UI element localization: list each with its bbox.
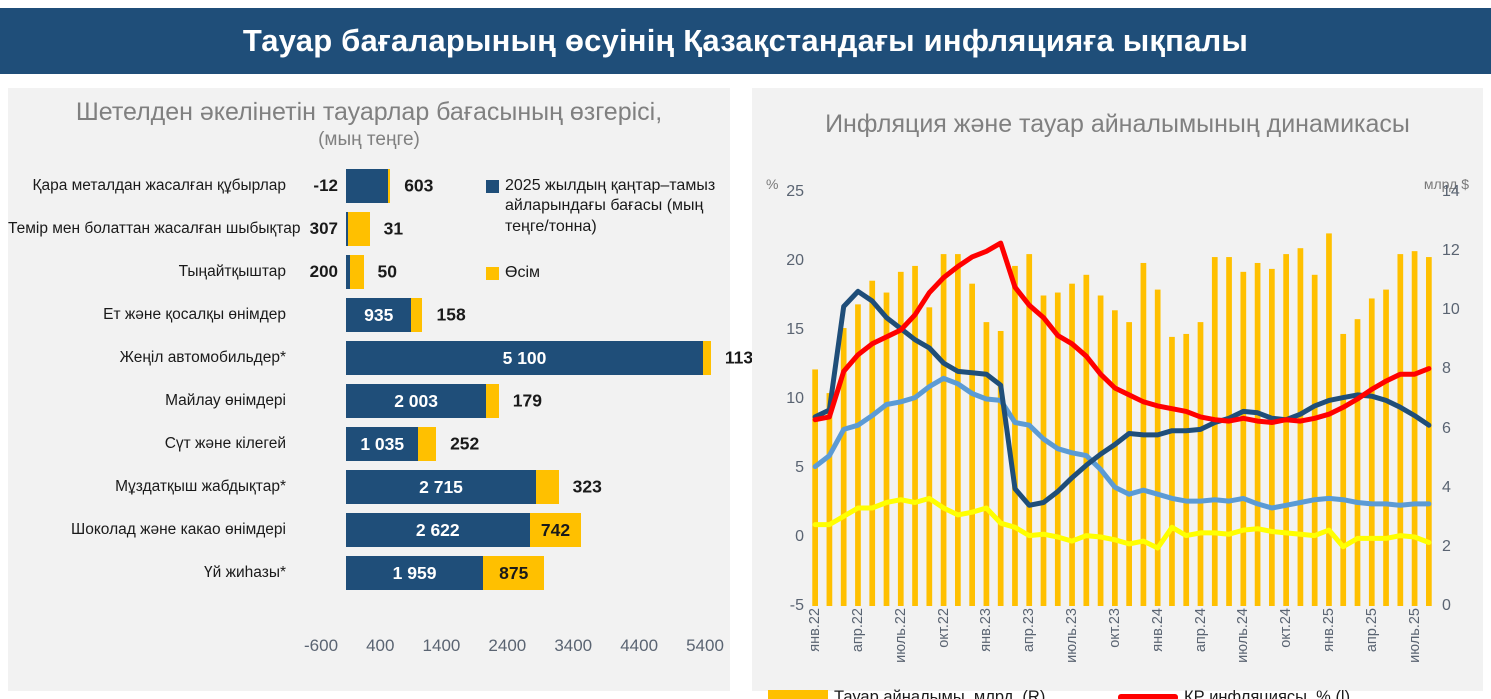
trade-turnover-bar (1397, 254, 1403, 606)
bar-row: Мұздатқыш жабдықтар*2 715323 (8, 466, 730, 509)
trade-turnover-bar (998, 331, 1004, 606)
infographic-page: Тауар бағаларының өсуінің Қазақстандағы … (0, 0, 1491, 699)
trade-turnover-bar (1212, 257, 1218, 606)
trade-turnover-bar (1369, 298, 1375, 606)
bar-category-label: Тыңайтқыштар (8, 263, 286, 281)
bar-growth-value: 323 (573, 477, 602, 498)
bar-growth-value: 179 (513, 391, 542, 412)
bar-row: Темір мен болаттан жасалған шыбықтар3130… (8, 208, 730, 251)
legend-column: ҚР инфляциясы, % (l)ҚХР-дағы инфляция, %… (1118, 688, 1448, 699)
legend-columns: Тауар айналымы, млрд. (R)РФ-дағы инфляци… (768, 688, 1468, 699)
bar-segment-growth (411, 298, 422, 332)
trade-turnover-bar (1326, 233, 1332, 606)
x-axis-tick: апр.24 (1193, 608, 1209, 652)
trade-turnover-bar (827, 393, 833, 606)
bar-segment-price: 1 035 (346, 427, 418, 461)
x-axis-tick: окт.23 (1107, 608, 1123, 648)
right-chart-legend: Тауар айналымы, млрд. (R)РФ-дағы инфляци… (768, 688, 1468, 699)
bar-growth-value: 113 (725, 348, 753, 369)
bar-segment-price: 1 959 (346, 556, 483, 590)
x-axis-tick: апр.23 (1021, 608, 1037, 652)
bar-category-label: Жеңіл автомобильдер* (8, 349, 286, 367)
bar-growth-value: 200 (294, 262, 338, 282)
trade-turnover-bar (1412, 251, 1418, 606)
x-axis-tick: июль.23 (1064, 608, 1080, 663)
x-axis-tick: янв.23 (978, 608, 994, 652)
left-chart-title: Шетелден әкелінетін тауарлар бағасының ө… (8, 98, 730, 127)
trade-turnover-bar (1012, 266, 1018, 606)
bar-category-label: Үй жиһазы* (8, 564, 286, 582)
trade-turnover-bar (1126, 322, 1132, 606)
trade-turnover-bar (1240, 272, 1246, 606)
trade-turnover-bar (941, 254, 947, 606)
y-axis-right-tick: 2 (1442, 538, 1482, 556)
line-series (815, 498, 1429, 548)
bar-price-value: 935 (364, 305, 393, 326)
bar-price-value: 2 715 (419, 477, 463, 498)
right-chart-y-axis-right: 14121086420 (1442, 192, 1482, 606)
y-axis-right-tick: 10 (1442, 301, 1482, 319)
bar-price-value: 5 100 (503, 348, 547, 369)
trade-turnover-bar (1312, 275, 1318, 606)
y-axis-right-tick: 14 (1442, 183, 1482, 201)
trade-turnover-bar (1283, 254, 1289, 606)
bar-segment-growth (348, 212, 369, 246)
legend-column: Тауар айналымы, млрд. (R)РФ-дағы инфляци… (768, 688, 1118, 699)
trade-turnover-bar (1426, 257, 1432, 606)
bar-growth-value: 307 (294, 219, 338, 239)
x-axis-tick: 1400 (423, 636, 461, 656)
y-axis-left-tick: 25 (764, 183, 804, 201)
trade-turnover-bar (984, 322, 990, 606)
bar-segment-growth: 875 (483, 556, 544, 590)
x-axis-tick: апр.22 (850, 608, 866, 652)
bar-price-value: 2 003 (394, 391, 438, 412)
bar-category-label: Мұздатқыш жабдықтар* (8, 478, 286, 496)
right-chart-plot-area: 2520151050-5 14121086420 (808, 192, 1436, 606)
bar-row: Үй жиһазы*1 959875 (8, 552, 730, 595)
legend-marker-yellow (768, 690, 828, 699)
trade-turnover-bar (1069, 284, 1075, 606)
trade-turnover-bar (1169, 337, 1175, 606)
y-axis-left-tick: -5 (764, 597, 804, 615)
y-axis-left-tick: 0 (764, 528, 804, 546)
bar-row: Ет және қосалқы өнімдер935158 (8, 294, 730, 337)
bar-category-label: Ет және қосалқы өнімдер (8, 306, 286, 324)
legend-marker-red (1118, 694, 1178, 699)
bar-growth-value: 742 (541, 520, 570, 541)
bar-row: Майлау өнімдері2 003179 (8, 380, 730, 423)
trade-turnover-bar (1340, 334, 1346, 606)
y-axis-right-tick: 8 (1442, 360, 1482, 378)
trade-turnover-bar (812, 369, 818, 606)
bar-category-label: Сүт және кілегей (8, 435, 286, 453)
bar-category-label: Қара металдан жасалған құбырлар (8, 177, 286, 195)
bar-segment-growth (350, 255, 364, 289)
trade-turnover-bar (1155, 290, 1161, 606)
header-banner: Тауар бағаларының өсуінің Қазақстандағы … (0, 8, 1491, 74)
trade-turnover-bar (1298, 248, 1304, 606)
trade-turnover-bar (1183, 334, 1189, 606)
bar-price-value: 1 959 (393, 563, 437, 584)
bar-row: Тыңайтқыштар50200 (8, 251, 730, 294)
bar-growth-value: 158 (437, 305, 466, 326)
bar-category-label: Майлау өнімдері (8, 392, 286, 410)
bar-row: Шоколад және какао өнімдері2 622742 (8, 509, 730, 552)
bar-segment-growth (486, 384, 499, 418)
right-chart-title: Инфляция және тауар айналымының динамика… (752, 110, 1483, 139)
right-chart-panel: Инфляция және тауар айналымының динамика… (752, 88, 1483, 691)
x-axis-tick: 5400 (686, 636, 724, 656)
bar-segment-growth (703, 341, 711, 375)
trade-turnover-bar (869, 281, 875, 606)
left-chart-panel: Шетелден әкелінетін тауарлар бағасының ө… (8, 88, 730, 691)
right-chart-y-axis-left: 2520151050-5 (764, 192, 804, 606)
y-axis-left-tick: 5 (764, 459, 804, 477)
x-axis-tick: окт.24 (1278, 608, 1294, 648)
bar-growth-value: 875 (499, 563, 528, 584)
trade-turnover-bar (1269, 269, 1275, 606)
x-axis-tick: 4400 (620, 636, 658, 656)
x-axis-tick: янв.24 (1150, 608, 1166, 652)
page-title: Тауар бағаларының өсуінің Қазақстандағы … (243, 23, 1248, 59)
bar-row: Жеңіл автомобильдер*5 100113 (8, 337, 730, 380)
bar-segment-growth (418, 427, 436, 461)
bar-category-label: Шоколад және какао өнімдері (8, 521, 286, 539)
legend-label: Тауар айналымы, млрд. (R) (834, 688, 1045, 699)
x-axis-tick: янв.22 (807, 608, 823, 652)
trade-turnover-bar (898, 272, 904, 606)
x-axis-tick: 3400 (554, 636, 592, 656)
bar-price-value: 1 035 (360, 434, 404, 455)
y-axis-left-tick: 20 (764, 252, 804, 270)
bar-price-value: 603 (404, 176, 433, 197)
trade-turnover-bar (1255, 263, 1261, 606)
trade-turnover-bar (969, 284, 975, 606)
bar-price-value: 50 (378, 262, 397, 283)
y-axis-right-tick: 12 (1442, 242, 1482, 260)
left-chart-subtitle: (мың теңге) (8, 129, 730, 151)
x-axis-tick: июль.22 (893, 608, 909, 663)
bar-segment-growth: 742 (530, 513, 582, 547)
bar-segment-price: 2 715 (346, 470, 536, 504)
trade-turnover-bar (1226, 257, 1232, 606)
x-axis-tick: 400 (366, 636, 394, 656)
trade-turnover-bar (1355, 319, 1361, 606)
x-axis-tick: окт.22 (936, 608, 952, 648)
legend-label: ҚР инфляциясы, % (l) (1184, 688, 1350, 699)
trade-turnover-bar (1112, 310, 1118, 606)
x-axis-tick: июль.25 (1407, 608, 1423, 663)
trade-turnover-bar (1383, 290, 1389, 606)
trade-turnover-bar (1198, 322, 1204, 606)
y-axis-left-tick: 10 (764, 390, 804, 408)
trade-turnover-bar (855, 304, 861, 606)
bar-row: Сүт және кілегей1 035252 (8, 423, 730, 466)
bar-category-label: Темір мен болаттан жасалған шыбықтар (8, 220, 286, 238)
bar-segment-growth (388, 169, 390, 203)
left-chart-x-axis: -60040014002400340044005400 (304, 636, 724, 656)
trade-turnover-bar (1083, 275, 1089, 606)
bar-segment-price (346, 169, 388, 203)
y-axis-right-tick: 6 (1442, 420, 1482, 438)
bar-segment-growth (536, 470, 559, 504)
right-legend-item: Тауар айналымы, млрд. (R) (768, 688, 1118, 699)
right-chart-svg (808, 192, 1436, 606)
x-axis-tick: июль.24 (1235, 608, 1251, 663)
bar-price-value: 31 (384, 219, 403, 240)
bar-row: Қара металдан жасалған құбырлар603-12 (8, 165, 730, 208)
x-axis-tick: янв.25 (1321, 608, 1337, 652)
right-legend-item: ҚР инфляциясы, % (l) (1118, 688, 1448, 699)
bar-price-value: 2 622 (416, 520, 460, 541)
y-axis-right-tick: 0 (1442, 597, 1482, 615)
x-axis-tick: 2400 (488, 636, 526, 656)
left-chart-bars: Қара металдан жасалған құбырлар603-12Тем… (8, 165, 730, 597)
x-axis-tick: -600 (304, 636, 338, 656)
bar-segment-price: 2 003 (346, 384, 486, 418)
bar-segment-price: 935 (346, 298, 411, 332)
bar-segment-price: 5 100 (346, 341, 703, 375)
trade-turnover-bar (1041, 296, 1047, 607)
trade-turnover-bar (955, 254, 961, 606)
bar-growth-value: 252 (450, 434, 479, 455)
bar-segment-price: 2 622 (346, 513, 530, 547)
right-chart-x-axis: янв.22апр.22июль.22окт.22янв.23апр.23июл… (808, 608, 1436, 684)
y-axis-left-tick: 15 (764, 321, 804, 339)
x-axis-tick: апр.25 (1364, 608, 1380, 652)
y-axis-right-tick: 4 (1442, 479, 1482, 497)
bar-growth-value: -12 (294, 176, 338, 196)
